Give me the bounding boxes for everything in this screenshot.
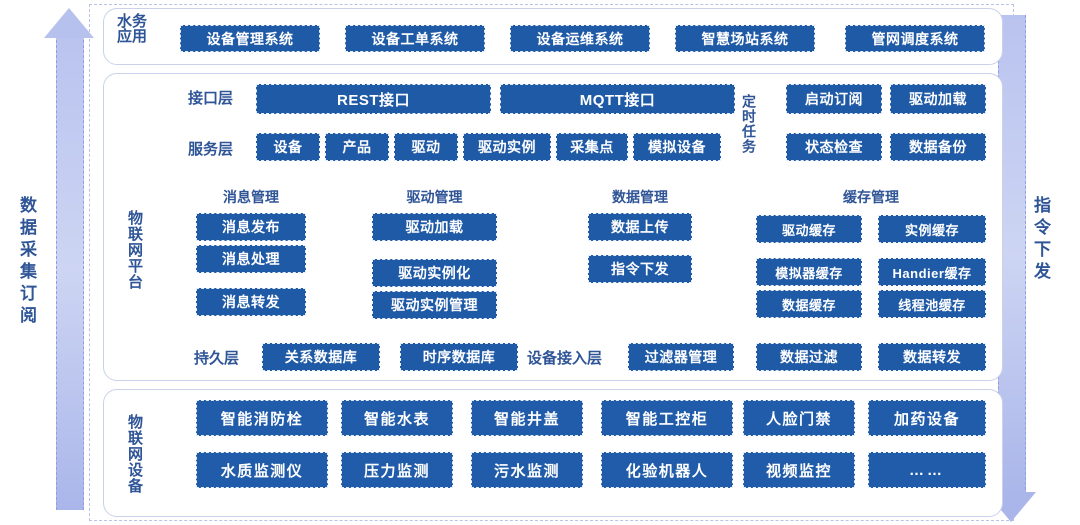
- left-arrow-column: 数据采集订阅: [0, 0, 100, 525]
- iot-devices-label: 物联网设备: [127, 400, 142, 508]
- timer-box-2[interactable]: 状态检查: [786, 133, 882, 161]
- cache-box-c2-2[interactable]: 线程池缓存: [878, 290, 986, 318]
- group-caption-cache: 缓存管理: [756, 187, 986, 207]
- message-box-1[interactable]: 消息处理: [196, 245, 306, 273]
- timer-box-1[interactable]: 驱动加载: [890, 84, 986, 114]
- interface-layer-label: 接口层: [188, 87, 233, 108]
- service-box-0[interactable]: 设备: [256, 133, 320, 161]
- device-box-r2-3[interactable]: 化验机器人: [601, 452, 733, 488]
- device-access-box-0[interactable]: 过滤器管理: [628, 343, 734, 371]
- apps-label-line2: 应用: [110, 29, 154, 44]
- service-box-4[interactable]: 采集点: [556, 133, 628, 161]
- device-access-layer-label: 设备接入层: [527, 347, 602, 368]
- service-box-1[interactable]: 产品: [325, 133, 389, 161]
- app-box-1[interactable]: 设备工单系统: [345, 25, 485, 52]
- service-box-5[interactable]: 模拟设备: [633, 133, 721, 161]
- persistence-box-1[interactable]: 时序数据库: [400, 343, 518, 371]
- device-box-r1-4[interactable]: 人脸门禁: [743, 400, 855, 436]
- device-box-r1-5[interactable]: 加药设备: [868, 400, 986, 436]
- group-caption-driver: 驱动管理: [372, 187, 497, 207]
- device-box-r2-0[interactable]: 水质监测仪: [196, 452, 328, 488]
- persistence-box-0[interactable]: 关系数据库: [262, 343, 380, 371]
- app-box-4[interactable]: 管网调度系统: [845, 25, 985, 52]
- right-arrow-label: 指令下发: [1032, 196, 1049, 284]
- service-box-3[interactable]: 驱动实例: [463, 133, 551, 161]
- data-box-1[interactable]: 指令下发: [588, 255, 692, 283]
- device-box-r1-2[interactable]: 智能井盖: [471, 400, 583, 436]
- persistence-layer-label: 持久层: [194, 347, 239, 368]
- message-box-0[interactable]: 消息发布: [196, 213, 306, 241]
- group-caption-message: 消息管理: [196, 187, 306, 207]
- device-box-r1-3[interactable]: 智能工控柜: [601, 400, 733, 436]
- driver-box-1[interactable]: 驱动实例化: [372, 259, 497, 287]
- device-access-box-2[interactable]: 数据转发: [878, 343, 986, 371]
- timer-box-3[interactable]: 数据备份: [890, 133, 986, 161]
- driver-box-2[interactable]: 驱动实例管理: [372, 291, 497, 319]
- architecture-diagram: 数据采集订阅 指令下发 水务 应用 设备管理系统 设备工单系统 设备运维系统 智…: [0, 0, 1080, 525]
- left-arrow-label: 数据采集订阅: [18, 196, 35, 328]
- device-box-r1-1[interactable]: 智能水表: [341, 400, 453, 436]
- data-box-0[interactable]: 数据上传: [588, 213, 692, 241]
- iot-platform-label: 物联网平台: [127, 190, 142, 310]
- cache-box-c2-1[interactable]: Handier缓存: [878, 258, 986, 286]
- device-box-r2-4[interactable]: 视频监控: [743, 452, 855, 488]
- timer-box-0[interactable]: 启动订阅: [786, 84, 882, 114]
- apps-label-line1: 水务: [110, 14, 154, 29]
- cache-box-c1-2[interactable]: 数据缓存: [756, 290, 862, 318]
- app-box-2[interactable]: 设备运维系统: [510, 25, 650, 52]
- interface-box-rest[interactable]: REST接口: [256, 84, 491, 114]
- device-access-box-1[interactable]: 数据过滤: [756, 343, 862, 371]
- app-box-3[interactable]: 智慧场站系统: [675, 25, 815, 52]
- service-box-2[interactable]: 驱动: [394, 133, 458, 161]
- app-box-0[interactable]: 设备管理系统: [180, 25, 320, 52]
- cache-box-c1-0[interactable]: 驱动缓存: [756, 215, 862, 243]
- driver-box-0[interactable]: 驱动加载: [372, 213, 497, 241]
- message-box-2[interactable]: 消息转发: [196, 288, 306, 316]
- device-box-r1-0[interactable]: 智能消防栓: [196, 400, 328, 436]
- service-layer-label: 服务层: [188, 138, 233, 159]
- group-caption-data: 数据管理: [588, 187, 692, 207]
- water-applications-label: 水务 应用: [110, 14, 154, 60]
- cache-box-c2-0[interactable]: 实例缓存: [878, 215, 986, 243]
- timer-tasks-label: 定时任务: [742, 85, 756, 163]
- data-collection-arrow-shaft: [56, 30, 84, 510]
- device-box-r2-2[interactable]: 污水监测: [471, 452, 583, 488]
- arrow-up-icon: [44, 8, 94, 38]
- interface-box-mqtt[interactable]: MQTT接口: [500, 84, 735, 114]
- device-box-r2-5[interactable]: ……: [868, 452, 986, 488]
- cache-box-c1-1[interactable]: 模拟器缓存: [756, 258, 862, 286]
- device-box-r2-1[interactable]: 压力监测: [341, 452, 453, 488]
